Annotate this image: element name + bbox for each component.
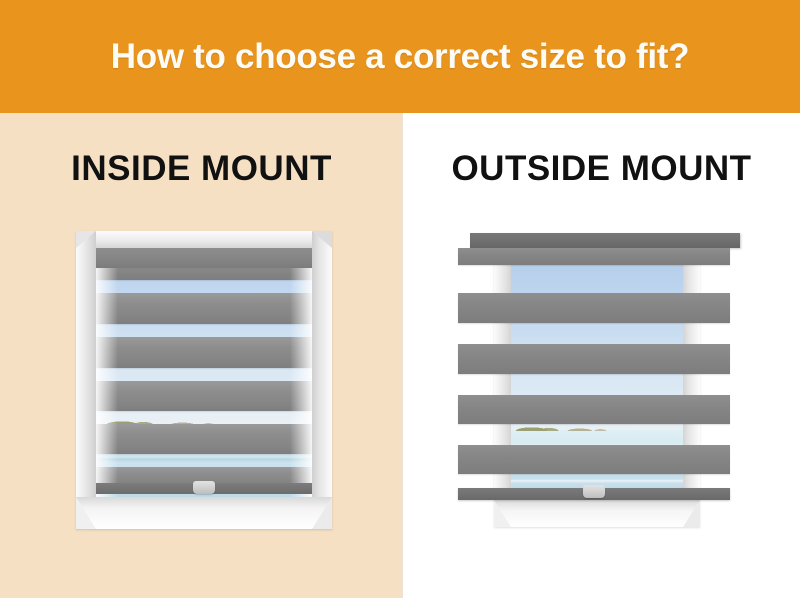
panel-outside-mount: OUTSIDE MOUNT <box>403 113 800 598</box>
blind-slat <box>458 293 730 323</box>
blind-slat <box>96 424 312 454</box>
zebra-blind-fabric-inside <box>96 248 312 497</box>
sheer-edge-highlight-right <box>290 248 312 497</box>
frame-bevel-top <box>76 231 332 248</box>
blind-valance-outside <box>470 233 740 248</box>
blind-slat-group-outside <box>458 248 730 505</box>
frame-corner-bottom-left <box>76 497 96 529</box>
blind-slat <box>96 293 312 324</box>
inside-mount-window-illustration: Zebra roller blind fitted inside the win… <box>62 225 344 545</box>
window-opening-inside <box>96 248 312 497</box>
outside-mount-illustration-caption: Zebra roller blind mounted on the wall o… <box>450 225 451 226</box>
blind-headrail-inside <box>96 248 312 268</box>
blind-slat <box>96 337 312 368</box>
blind-pull-tab-inside[interactable] <box>193 481 215 494</box>
frame-corner-bottom-right <box>312 497 332 529</box>
blind-slat <box>458 445 730 474</box>
window-sill-inside <box>76 497 332 529</box>
header-banner: How to choose a correct size to fit? <box>0 0 800 113</box>
outside-mount-window-illustration: Zebra roller blind mounted on the wall o… <box>450 225 750 555</box>
blind-slat <box>458 395 730 424</box>
panel-inside-mount: INSIDE MOUNT <box>0 113 403 598</box>
blind-slat <box>458 344 730 374</box>
frame-corner-top-left <box>76 231 96 248</box>
blind-slat <box>458 248 730 265</box>
frame-bevel-right <box>312 231 332 529</box>
inside-mount-illustration-caption: Zebra roller blind fitted inside the win… <box>62 225 63 226</box>
blind-pull-tab-outside[interactable] <box>583 485 605 498</box>
page-title: How to choose a correct size to fit? <box>111 37 689 77</box>
inside-mount-heading: INSIDE MOUNT <box>0 149 403 189</box>
outside-mount-heading: OUTSIDE MOUNT <box>403 149 800 189</box>
blind-slat <box>96 381 312 411</box>
frame-corner-top-right <box>312 231 332 248</box>
infographic-canvas: How to choose a correct size to fit? INS… <box>0 0 800 598</box>
frame-bevel-left <box>76 231 96 529</box>
zebra-blind-fabric-outside <box>458 233 740 505</box>
sheer-edge-highlight-left <box>96 248 118 497</box>
